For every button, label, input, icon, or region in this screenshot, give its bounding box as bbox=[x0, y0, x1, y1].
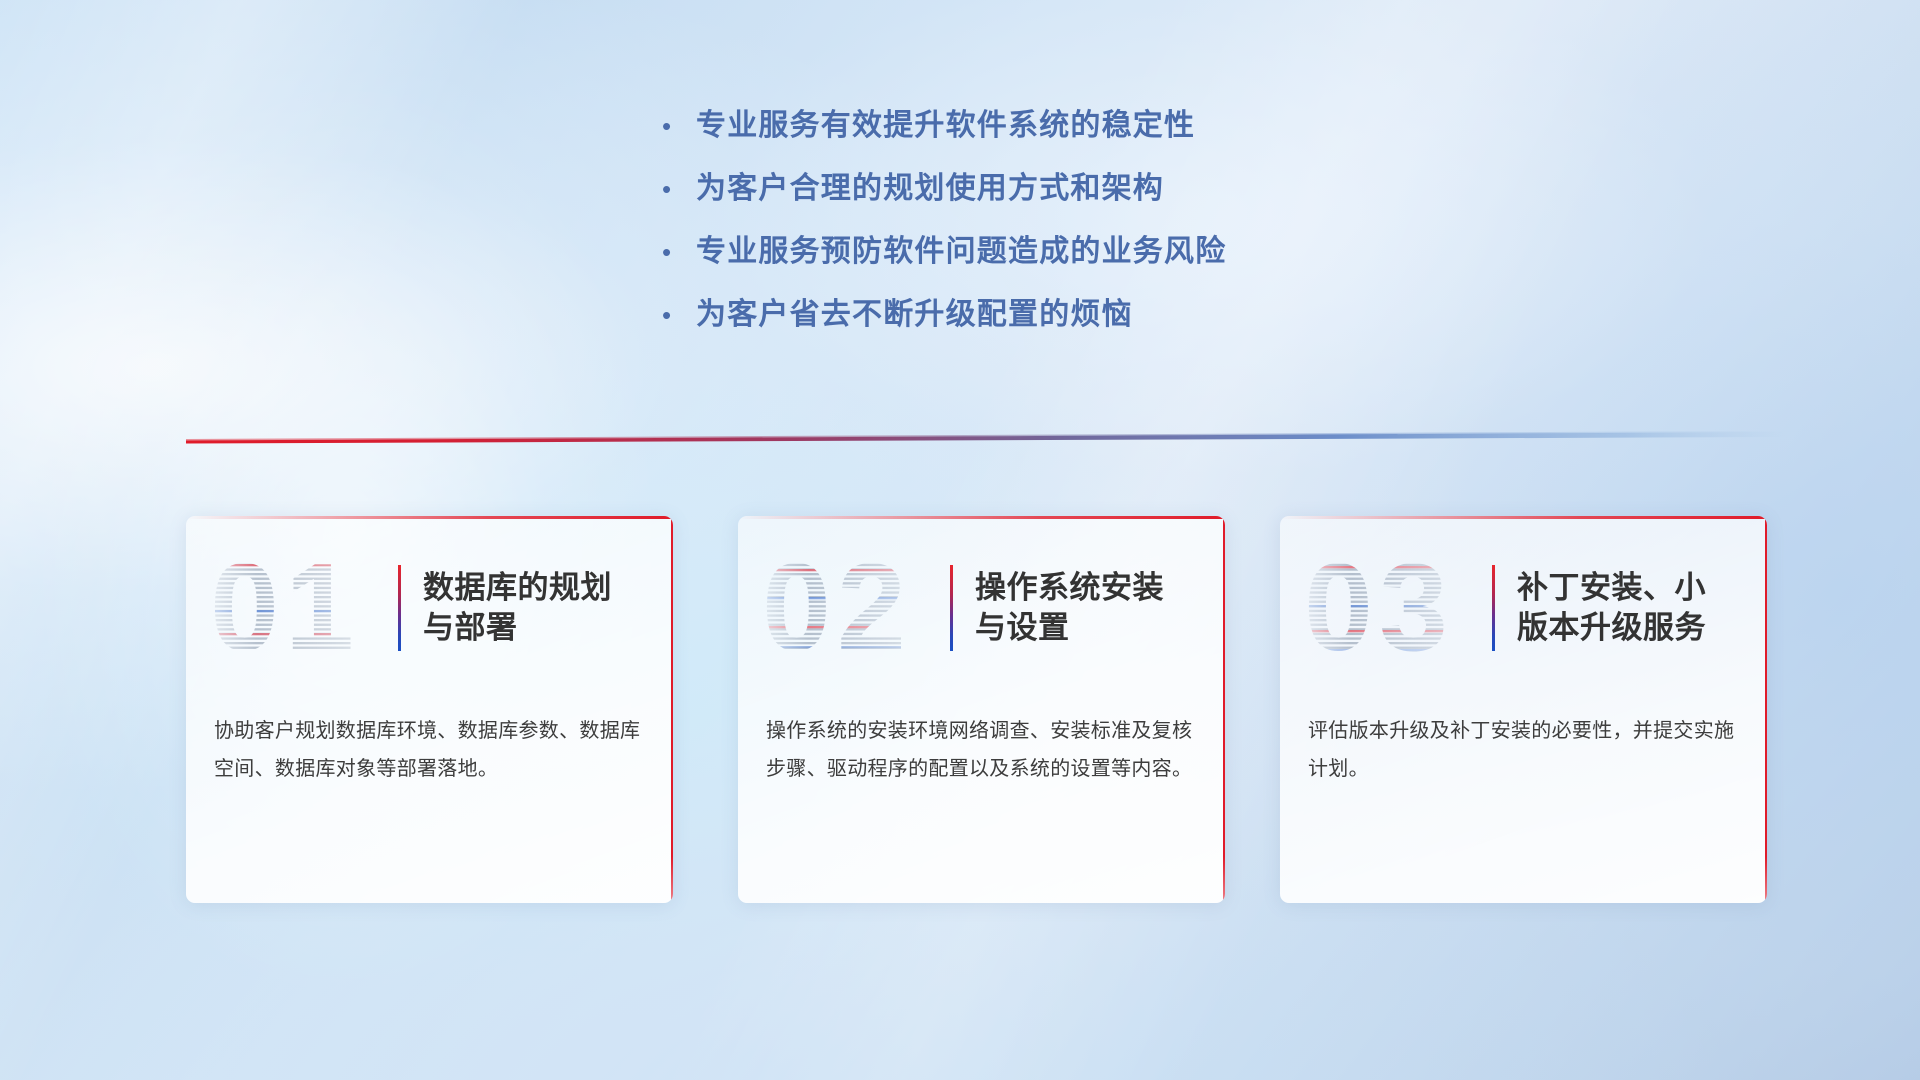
card-top-accent bbox=[1280, 516, 1767, 519]
bullet-text: 为客户合理的规划使用方式和架构 bbox=[696, 163, 1164, 207]
card-title: 补丁安装、小 版本升级服务 bbox=[1517, 568, 1706, 649]
card-body-text: 协助客户规划数据库环境、数据库参数、数据库空间、数据库对象等部署落地。 bbox=[214, 712, 645, 789]
card-number-02: 02 bbox=[754, 550, 950, 666]
title-accent-bar bbox=[1492, 565, 1495, 651]
ghost-number-glyph: 01 bbox=[202, 550, 398, 666]
bullet-dot-icon: • bbox=[662, 239, 696, 265]
list-item: • 为客户省去不断升级配置的烦恼 bbox=[662, 289, 1226, 352]
bullet-list: • 专业服务有效提升软件系统的稳定性 • 为客户合理的规划使用方式和架构 • 专… bbox=[662, 100, 1226, 352]
title-accent-bar bbox=[950, 565, 953, 651]
bullet-text: 专业服务有效提升软件系统的稳定性 bbox=[696, 100, 1195, 144]
card-header: 01 数据库的规划 与部署 bbox=[186, 542, 673, 674]
divider bbox=[186, 430, 1786, 446]
bullet-text: 专业服务预防软件问题造成的业务风险 bbox=[696, 226, 1226, 270]
card-header: 03 补丁安装、小 版本升级服务 bbox=[1280, 542, 1767, 674]
card-header: 02 操作系统安装 与设置 bbox=[738, 542, 1225, 674]
card-01[interactable]: 01 数据库的规划 与部署 协助客户规划 bbox=[186, 516, 673, 903]
bullet-dot-icon: • bbox=[662, 113, 696, 139]
bullet-text: 为客户省去不断升级配置的烦恼 bbox=[696, 289, 1133, 333]
ghost-number-glyph: 02 bbox=[754, 550, 950, 666]
card-number-03: 03 bbox=[1296, 550, 1492, 666]
card-number-01: 01 bbox=[202, 550, 398, 666]
card-title: 操作系统安装 与设置 bbox=[975, 568, 1164, 649]
list-item: • 专业服务预防软件问题造成的业务风险 bbox=[662, 226, 1226, 289]
divider-shape bbox=[186, 430, 1786, 446]
card-row: 01 数据库的规划 与部署 协助客户规划 bbox=[0, 516, 1920, 916]
card-03[interactable]: 03 补丁安装、小 版本升级服务 评估版 bbox=[1280, 516, 1767, 903]
card-top-accent bbox=[186, 516, 673, 519]
bullet-dot-icon: • bbox=[662, 302, 696, 328]
card-top-accent bbox=[738, 516, 1225, 519]
card-02[interactable]: 02 操作系统安装 与设置 操作系统的安 bbox=[738, 516, 1225, 903]
list-item: • 为客户合理的规划使用方式和架构 bbox=[662, 163, 1226, 226]
slide-canvas: • 专业服务有效提升软件系统的稳定性 • 为客户合理的规划使用方式和架构 • 专… bbox=[0, 0, 1920, 1080]
list-item: • 专业服务有效提升软件系统的稳定性 bbox=[662, 100, 1226, 163]
title-accent-bar bbox=[398, 565, 401, 651]
card-body-text: 操作系统的安装环境网络调查、安装标准及复核步骤、驱动程序的配置以及系统的设置等内… bbox=[766, 712, 1197, 789]
card-title: 数据库的规划 与部署 bbox=[423, 568, 612, 649]
ghost-number-glyph: 03 bbox=[1296, 550, 1492, 666]
card-body-text: 评估版本升级及补丁安装的必要性，并提交实施计划。 bbox=[1308, 712, 1739, 789]
bullet-dot-icon: • bbox=[662, 176, 696, 202]
